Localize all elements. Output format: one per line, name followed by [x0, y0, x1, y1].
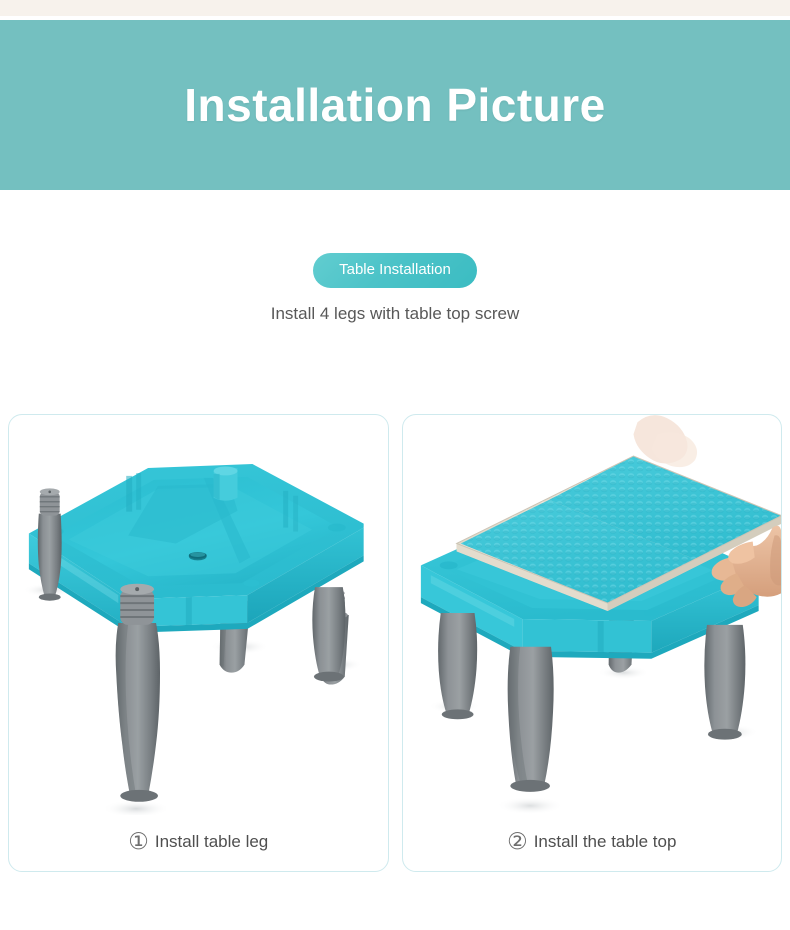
header-banner: Installation Picture [0, 20, 790, 190]
table-top-installation-illustration [403, 415, 782, 815]
step-number-icon: ② [507, 830, 528, 853]
table-leg-icon [507, 647, 553, 792]
section-subtitle: Install 4 legs with table top screw [0, 303, 790, 325]
leg-screw-thread-icon [40, 488, 60, 515]
table-leg-icon [704, 625, 745, 740]
step-1-photo [9, 415, 388, 815]
page-title: Installation Picture [184, 78, 606, 132]
step-2-photo [403, 415, 782, 815]
step-2-caption-text: Install the table top [534, 833, 677, 850]
tub-post-icon [214, 466, 238, 500]
badge-row: Table Installation [0, 253, 790, 288]
hand-icon [633, 415, 697, 467]
section-badge: Table Installation [313, 253, 477, 288]
step-2-caption: ② Install the table top [403, 830, 782, 853]
leg-screw-thread-icon [120, 584, 154, 625]
table-leg-icon [116, 584, 160, 802]
drain-hole-icon [189, 552, 207, 560]
step-1-caption: ① Install table leg [9, 830, 388, 853]
step-card-2: ② Install the table top [402, 414, 783, 872]
step-number-icon: ① [128, 830, 149, 853]
top-accent-strip [0, 0, 790, 16]
table-tub-illustration [9, 415, 388, 815]
table-leg-icon [438, 613, 477, 719]
step-1-caption-text: Install table leg [155, 833, 268, 850]
step-card-list: ① Install table leg [8, 414, 782, 872]
step-card-1: ① Install table leg [8, 414, 389, 872]
